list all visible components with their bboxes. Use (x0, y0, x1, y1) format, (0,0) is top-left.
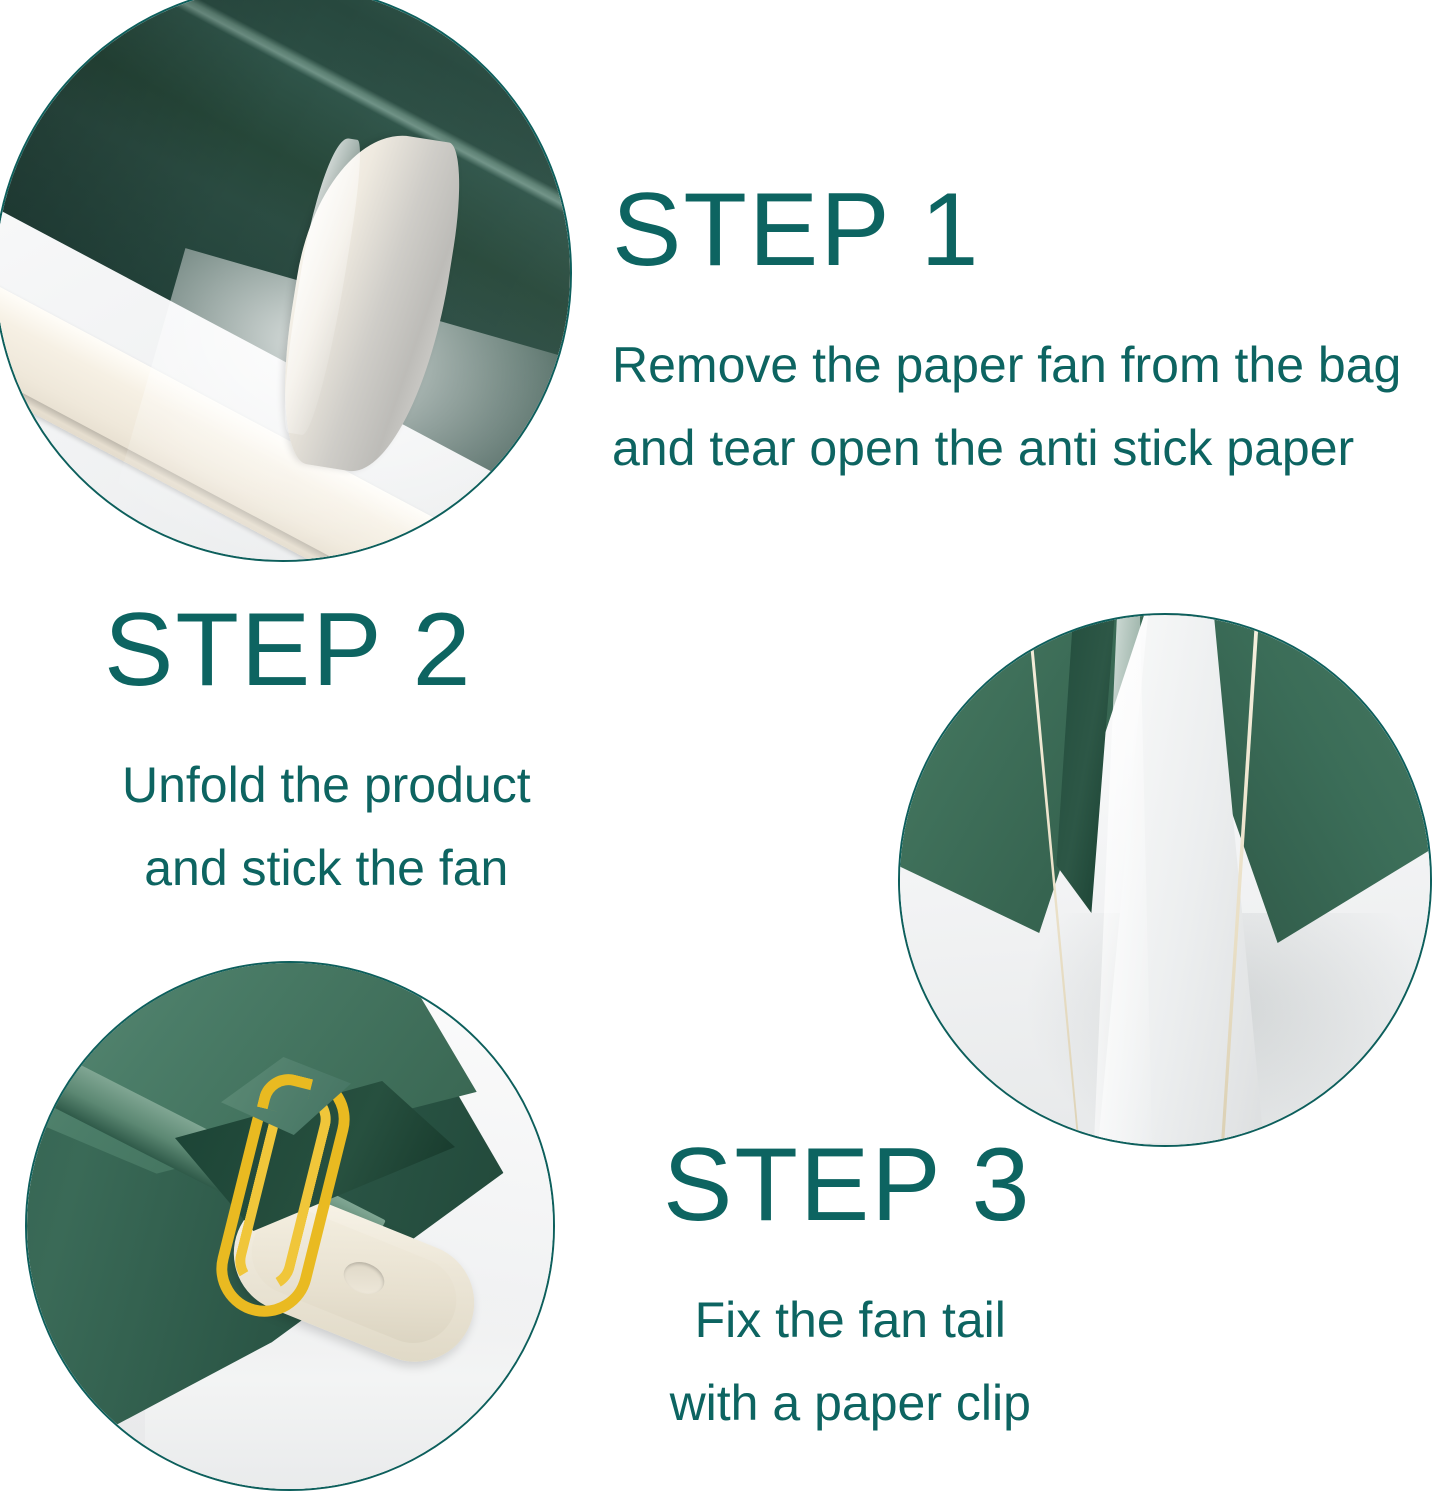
step-2-instructions: Unfold the product and stick the fan (104, 744, 531, 910)
step-3-text-block: STEP 3 Fix the fan tail with a paper cli… (663, 1133, 1031, 1445)
step-3-title: STEP 3 (663, 1133, 1031, 1237)
step-1-line-2: and tear open the anti stick paper (612, 407, 1401, 490)
step-2-title: STEP 2 (104, 598, 531, 702)
photo-step1-scene (0, 0, 572, 562)
step-3-line-1: Fix the fan tail (669, 1279, 1031, 1362)
photo-unfolded-fan-wedge (898, 613, 1432, 1147)
instruction-poster: STEP 1 Remove the paper fan from the bag… (0, 0, 1437, 1500)
step-1-instructions: Remove the paper fan from the bag and te… (612, 324, 1401, 490)
step-2-line-1: Unfold the product (122, 744, 531, 827)
step-1-line-1: Remove the paper fan from the bag (612, 324, 1401, 407)
step-1-text-block: STEP 1 Remove the paper fan from the bag… (612, 178, 1401, 490)
step-2-line-2: and stick the fan (122, 827, 531, 910)
step-2-text-block: STEP 2 Unfold the product and stick the … (104, 598, 531, 910)
photo-step3-scene (25, 961, 555, 1491)
photo-paper-clip-on-fan-tail (25, 961, 555, 1491)
photo-fan-with-anti-stick-paper (0, 0, 572, 562)
step-3-line-2: with a paper clip (669, 1362, 1031, 1445)
step-3-instructions: Fix the fan tail with a paper clip (663, 1279, 1031, 1445)
photo-step2-scene (898, 613, 1432, 1147)
step-1-title: STEP 1 (612, 178, 1401, 282)
